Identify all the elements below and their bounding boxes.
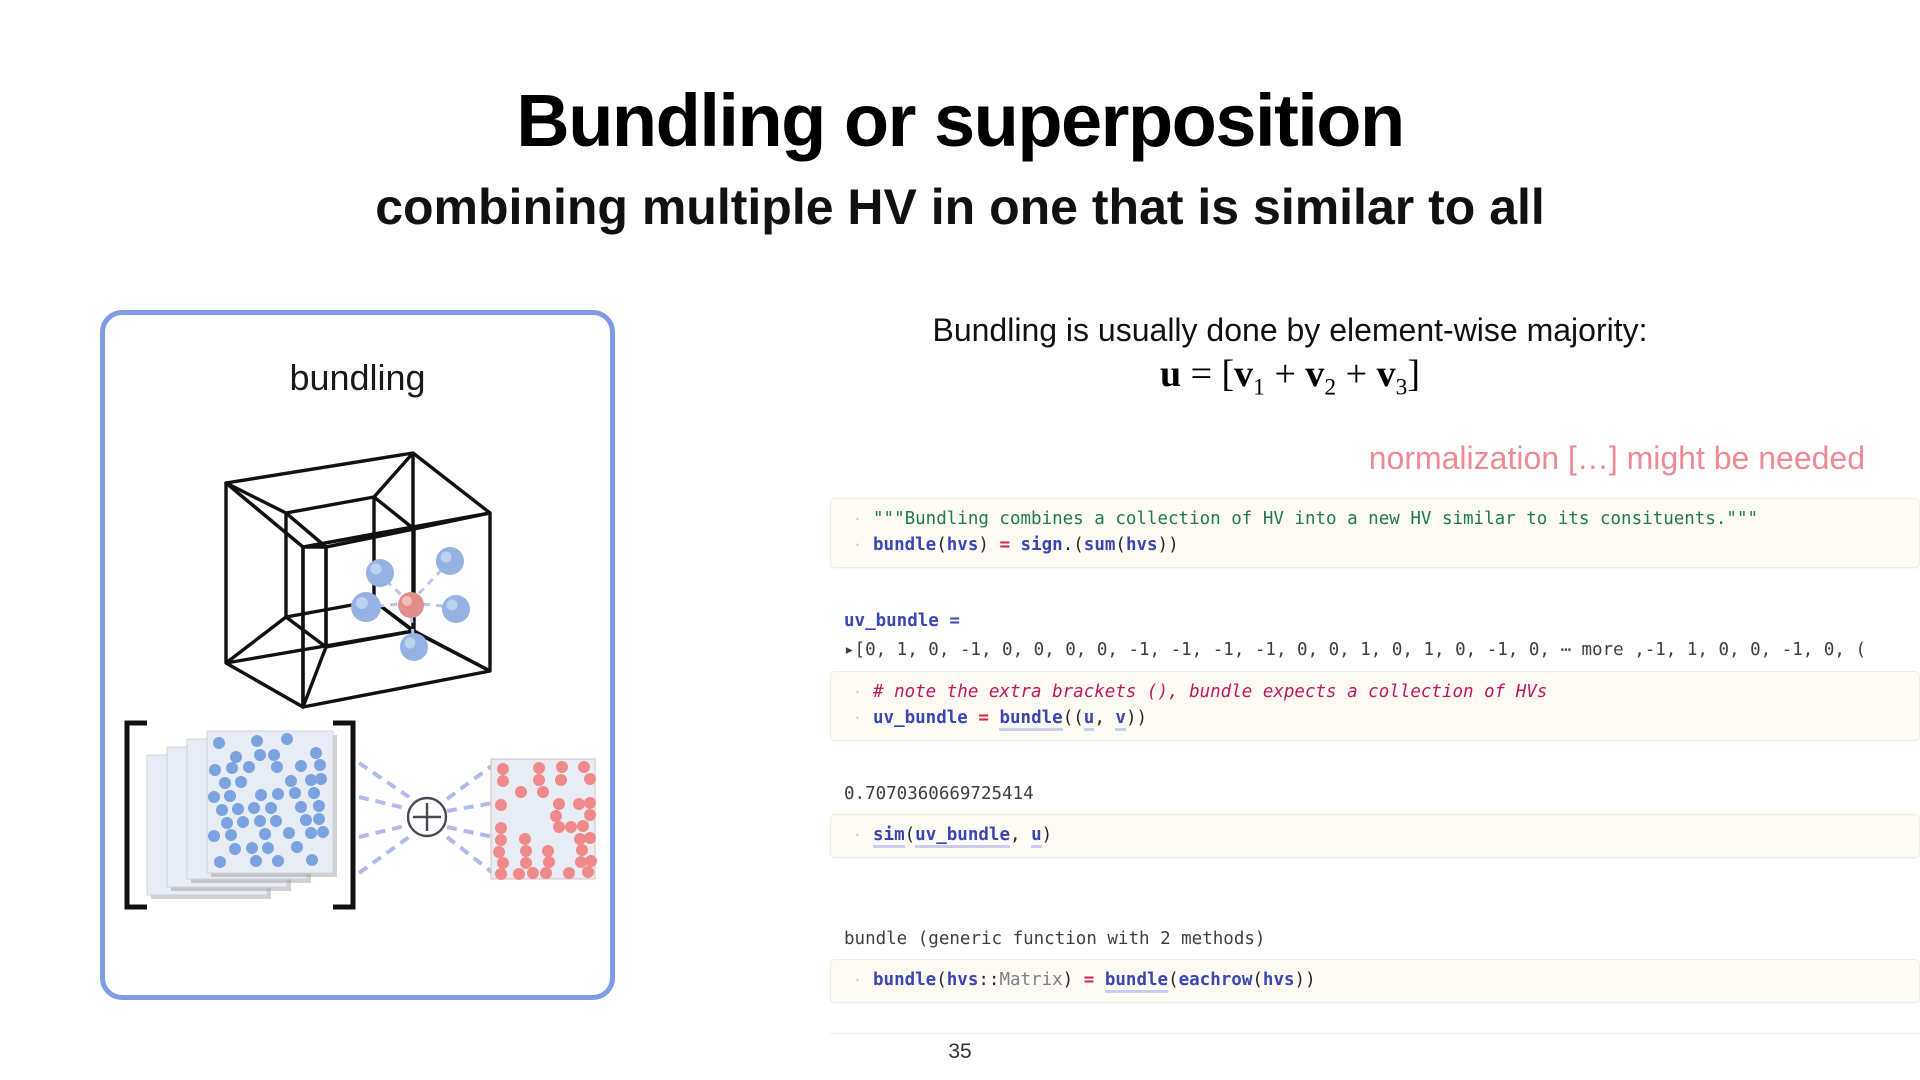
- formula-plus-1: +: [1274, 353, 1295, 395]
- code-token: ::: [978, 970, 999, 990]
- tesseract-diagram: [208, 435, 508, 720]
- panel-caption: bundling: [105, 357, 610, 399]
- output-array[interactable]: ▸[0, 1, 0, -1, 0, 0, 0, 0, -1, -1, -1, -…: [844, 635, 1920, 665]
- code-token: ): [1042, 825, 1053, 845]
- code-token: """Bundling combines a collection of HV …: [873, 509, 1758, 529]
- notebook-cell-sim[interactable]: 0.7070360669725414 ·sim(uv_bundle, u): [830, 775, 1920, 858]
- code-token: bundle: [873, 535, 936, 555]
- formula-close: ]: [1407, 353, 1420, 395]
- formula-term-3: v: [1377, 353, 1396, 395]
- section-divider: [830, 1033, 1920, 1034]
- formula-plus-2: +: [1346, 353, 1367, 395]
- code-token: uv_bundle: [873, 708, 968, 728]
- code-token: ((: [1063, 708, 1084, 728]
- code-token: hvs: [947, 970, 979, 990]
- code-tokens: # note the extra brackets (), bundle exp…: [873, 682, 1547, 702]
- cell-output: bundle (generic function with 2 methods): [830, 920, 1920, 959]
- code-line[interactable]: ·# note the extra brackets (), bundle ex…: [831, 679, 1919, 705]
- code-token: eachrow: [1179, 970, 1253, 990]
- cell-gutter-dot-icon: ·: [853, 822, 862, 848]
- intro-text: Bundling is usually done by element-wise…: [700, 312, 1880, 349]
- code-token: sign: [1021, 535, 1063, 555]
- formula-open: [: [1222, 353, 1235, 395]
- code-token: =: [1084, 970, 1095, 990]
- formula-lhs: u: [1160, 353, 1181, 395]
- code-token: ,: [1094, 708, 1115, 728]
- code-token: [968, 708, 979, 728]
- code-token: u: [1031, 825, 1042, 848]
- page-subtitle: combining multiple HV in one that is sim…: [0, 182, 1920, 232]
- code-line[interactable]: ·bundle(hvs) = sign.(sum(hvs)): [831, 532, 1919, 558]
- code-token: [989, 708, 1000, 728]
- code-token: bundle: [1105, 970, 1168, 993]
- formula-term-3-sub: 3: [1396, 375, 1408, 401]
- code-token: =: [999, 535, 1010, 555]
- notebook-cell-uv-bundle[interactable]: uv_bundle = ▸[0, 1, 0, -1, 0, 0, 0, 0, -…: [830, 602, 1920, 741]
- cell-output: 0.7070360669725414: [830, 775, 1920, 814]
- normalization-note: normalization […] might be needed: [1369, 440, 1865, 477]
- formula-term-1-sub: 1: [1253, 375, 1265, 401]
- formula-eq: [1181, 353, 1191, 395]
- cell-gutter-dot-icon: ·: [853, 506, 862, 532]
- code-token: bundle: [999, 708, 1062, 731]
- page-number: 35: [0, 1040, 1920, 1064]
- code-tokens: uv_bundle = bundle((u, v)): [873, 708, 1147, 731]
- formula-term-2-sub: 2: [1324, 375, 1336, 401]
- code-token: =: [978, 708, 989, 728]
- code-token: (: [1168, 970, 1179, 990]
- code-token: )): [1126, 708, 1147, 728]
- cell-gutter-dot-icon: ·: [853, 705, 862, 731]
- output-value: 0.7070360669725414: [844, 780, 1920, 808]
- code-token: Matrix: [999, 970, 1062, 990]
- code-token: hvs: [947, 535, 979, 555]
- formula-term-2: v: [1305, 353, 1324, 395]
- code-token: hvs: [1126, 535, 1158, 555]
- page-title: Bundling or superposition: [0, 84, 1920, 158]
- code-line[interactable]: ·"""Bundling combines a collection of HV…: [831, 506, 1919, 532]
- hypervector-spheres: [351, 547, 470, 661]
- code-line[interactable]: ·uv_bundle = bundle((u, v)): [831, 705, 1919, 731]
- bracket-left: [127, 723, 147, 907]
- cell-output: uv_bundle = ▸[0, 1, 0, -1, 0, 0, 0, 0, -…: [830, 602, 1920, 671]
- code-token: u: [1084, 708, 1095, 731]
- bundling-illustration-panel: bundling: [100, 310, 615, 1000]
- bundling-formula: u = [v1 + v2 + v3]: [700, 352, 1880, 402]
- code-token: ): [1063, 970, 1084, 990]
- notebook-cells: ·"""Bundling combines a collection of HV…: [830, 498, 1920, 1034]
- code-token: ,: [1010, 825, 1031, 845]
- notebook-cell-bundle-def[interactable]: ·"""Bundling combines a collection of HV…: [830, 498, 1920, 568]
- code-token: ): [978, 535, 999, 555]
- code-box[interactable]: ·"""Bundling combines a collection of HV…: [830, 498, 1920, 568]
- code-token: .(: [1063, 535, 1084, 555]
- cell-gutter-dot-icon: ·: [853, 967, 862, 993]
- code-token: # note the extra brackets (), bundle exp…: [873, 682, 1547, 702]
- code-box[interactable]: ·# note the extra brackets (), bundle ex…: [830, 671, 1920, 741]
- code-token: (: [1252, 970, 1263, 990]
- code-line[interactable]: ·sim(uv_bundle, u): [831, 822, 1919, 848]
- code-token: [1094, 970, 1105, 990]
- output-value: bundle (generic function with 2 methods): [844, 925, 1920, 953]
- code-tokens: bundle(hvs::Matrix) = bundle(eachrow(hvs…: [873, 970, 1316, 993]
- bundling-stack-diagram: [115, 715, 605, 920]
- code-token: [1010, 535, 1021, 555]
- code-token: bundle: [873, 970, 936, 990]
- code-token: sim: [873, 825, 905, 848]
- plus-operator-icon: [408, 798, 446, 836]
- code-box[interactable]: ·bundle(hvs::Matrix) = bundle(eachrow(hv…: [830, 959, 1920, 1003]
- code-token: (: [936, 970, 947, 990]
- code-token: sum: [1084, 535, 1116, 555]
- code-tokens: bundle(hvs) = sign.(sum(hvs)): [873, 535, 1179, 555]
- code-tokens: sim(uv_bundle, u): [873, 825, 1052, 848]
- code-token: (: [905, 825, 916, 845]
- notebook-cell-bundle-matrix[interactable]: bundle (generic function with 2 methods)…: [830, 920, 1920, 1003]
- code-tokens: """Bundling combines a collection of HV …: [873, 509, 1758, 529]
- code-token: )): [1158, 535, 1179, 555]
- code-line[interactable]: ·bundle(hvs::Matrix) = bundle(eachrow(hv…: [831, 967, 1919, 993]
- cell-gutter-dot-icon: ·: [853, 532, 862, 558]
- code-box[interactable]: ·sim(uv_bundle, u): [830, 814, 1920, 858]
- output-variable-label: uv_bundle =: [844, 611, 960, 631]
- code-token: uv_bundle: [915, 825, 1010, 848]
- code-token: v: [1115, 708, 1126, 731]
- formula-term-1: v: [1234, 353, 1253, 395]
- code-token: (: [1115, 535, 1126, 555]
- code-token: (: [936, 535, 947, 555]
- code-token: )): [1295, 970, 1316, 990]
- code-token: hvs: [1263, 970, 1295, 990]
- cell-gutter-dot-icon: ·: [853, 679, 862, 705]
